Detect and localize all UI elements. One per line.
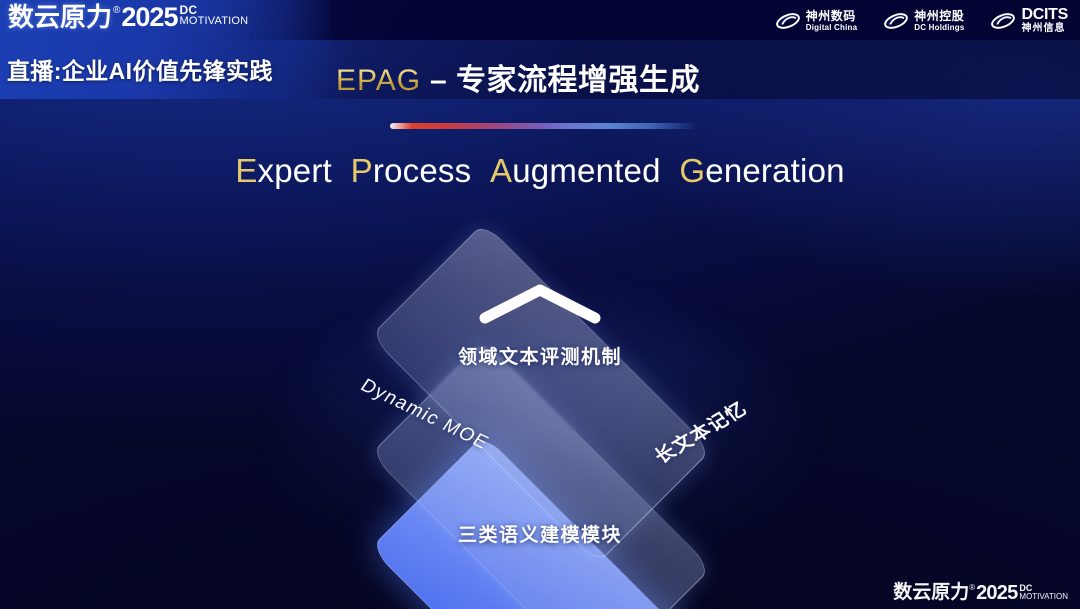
swirl-logo-icon — [883, 10, 909, 32]
partner-name-cn: 神州信息 — [1021, 24, 1068, 34]
swirl-logo-icon — [990, 10, 1016, 32]
subtitle-initial: A — [490, 152, 512, 189]
partner-text: 神州控股 DC Holdings — [914, 10, 964, 32]
partner-name-en: Digital China — [806, 24, 858, 32]
partner-name-en: DC Holdings — [914, 24, 964, 32]
subtitle-space — [670, 152, 679, 189]
registered-mark: ® — [113, 6, 120, 16]
event-logo-dc-block: DC MOTIVATION — [179, 5, 248, 27]
subtitle-word-process: Process — [351, 152, 472, 189]
partner-text: DCITS 神州信息 — [1021, 7, 1068, 34]
partner-name-en: DCITS — [1021, 7, 1068, 23]
subtitle-rest: xpert — [258, 152, 332, 189]
partner-name-cn: 神州控股 — [914, 10, 964, 22]
watermark-logo-year: 2025 — [976, 583, 1017, 603]
subtitle-rest: ugmented — [512, 152, 660, 189]
subtitle-space — [481, 152, 490, 189]
title-divider — [390, 123, 695, 129]
watermark-logo-motivation: MOTIVATION — [1019, 592, 1068, 601]
watermark-logo-dc: DC — [1019, 584, 1068, 592]
event-logo-year: 2025 — [121, 4, 177, 31]
partner-logo-group: 神州数码 Digital China 神州控股 DC Holdings — [775, 7, 1068, 34]
page-subtitle: Expert Process Augmented Generation — [0, 152, 1080, 190]
subtitle-rest: eneration — [705, 152, 844, 189]
event-logo-cn: 数云原力 — [8, 4, 112, 30]
slide-canvas: 数云原力 ® 2025 DC MOTIVATION 直播:企业AI价值先锋实践 … — [0, 0, 1080, 609]
subtitle-initial: P — [351, 152, 373, 189]
title-acronym: EPAG — [336, 64, 421, 97]
watermark-dc-block: DC MOTIVATION — [1019, 584, 1068, 601]
subtitle-space — [341, 152, 350, 189]
subtitle-word-augmented: Augmented — [490, 152, 661, 189]
title-dash: – — [421, 64, 456, 97]
subtitle-word-generation: Generation — [679, 152, 844, 189]
partner-text: 神州数码 Digital China — [806, 10, 858, 32]
live-stream-title: 直播:企业AI价值先锋实践 — [7, 52, 273, 86]
subtitle-initial: E — [235, 152, 257, 189]
page-title: EPAG – 专家流程增强生成 — [336, 55, 700, 99]
layered-architecture-diagram: 领域文本评测机制 Dynamic MOE 长文本记忆 三类语义建模模块 — [300, 232, 780, 592]
event-logo-motivation: MOTIVATION — [179, 16, 248, 27]
subtitle-initial: G — [679, 152, 705, 189]
footer-watermark-logo: 数云原力 ® 2025 DC MOTIVATION — [893, 583, 1068, 603]
watermark-logo-cn: 数云原力 — [893, 583, 969, 602]
watermark-registered-mark: ® — [969, 584, 975, 592]
event-logo: 数云原力 ® 2025 DC MOTIVATION — [8, 4, 248, 31]
partner-name-cn: 神州数码 — [806, 10, 858, 22]
partner-logo-dc-holdings: 神州控股 DC Holdings — [883, 10, 964, 32]
subtitle-rest: rocess — [373, 152, 471, 189]
swirl-logo-icon — [775, 10, 801, 32]
partner-logo-digital-china: 神州数码 Digital China — [775, 10, 858, 32]
subtitle-word-expert: Expert — [235, 152, 332, 189]
partner-logo-dcits: DCITS 神州信息 — [990, 7, 1068, 34]
title-chinese: 专家流程增强生成 — [456, 64, 700, 97]
